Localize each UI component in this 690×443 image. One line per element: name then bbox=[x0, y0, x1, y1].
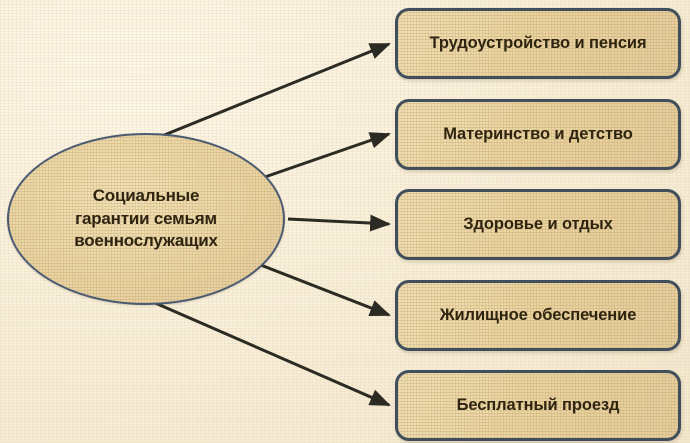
branch-node-motherhood-and-childhood[interactable]: Материнство и детство bbox=[395, 99, 681, 170]
branch-node-free-travel[interactable]: Бесплатный проезд bbox=[395, 370, 681, 441]
connector-to-branch-4 bbox=[253, 262, 389, 315]
branch-node-housing-provision[interactable]: Жилищное обеспечение bbox=[395, 280, 681, 351]
center-node-label-line-2: гарантии семьям bbox=[74, 208, 218, 231]
center-node-label: Социальные гарантии семьям военнослужащи… bbox=[60, 185, 232, 254]
branch-node-label: Бесплатный проезд bbox=[447, 396, 630, 415]
diagram-canvas: Социальные гарантии семьям военнослужащи… bbox=[0, 0, 690, 443]
branch-node-health-and-rest[interactable]: Здоровье и отдых bbox=[395, 189, 681, 260]
connector-to-branch-1 bbox=[152, 44, 389, 140]
connector-to-branch-2 bbox=[262, 134, 389, 178]
branch-node-label: Здоровье и отдых bbox=[453, 215, 623, 234]
connector-to-branch-3 bbox=[288, 219, 389, 224]
center-node-label-line-3: военнослужащих bbox=[74, 230, 218, 253]
branch-node-label: Трудоустройство и пенсия bbox=[420, 34, 657, 53]
connector-to-branch-5 bbox=[130, 292, 389, 405]
center-node-social-guarantees[interactable]: Социальные гарантии семьям военнослужащи… bbox=[7, 133, 285, 305]
branch-node-employment-and-pension[interactable]: Трудоустройство и пенсия bbox=[395, 8, 681, 79]
branch-node-label: Жилищное обеспечение bbox=[430, 306, 647, 325]
branch-node-label: Материнство и детство bbox=[433, 125, 643, 144]
center-node-label-line-1: Социальные bbox=[74, 185, 218, 208]
